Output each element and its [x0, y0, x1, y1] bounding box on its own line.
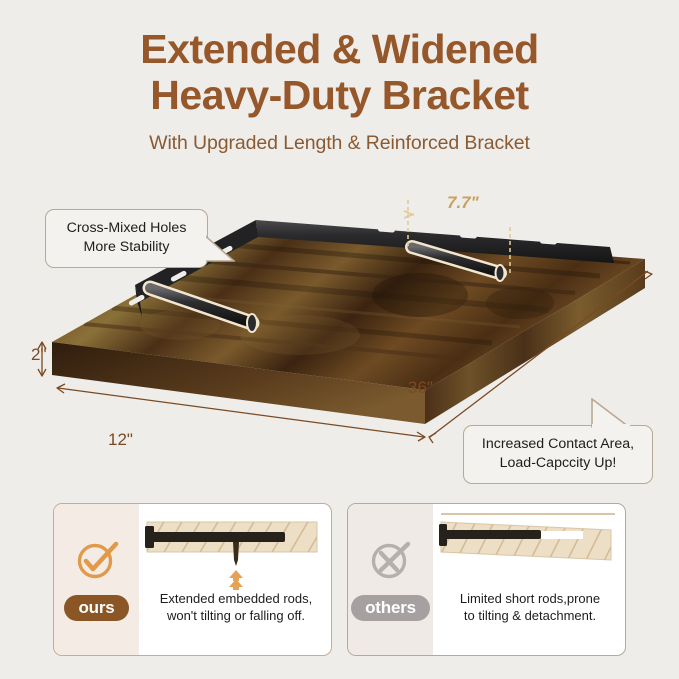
comparison-panel-ours: ours	[53, 503, 332, 656]
callout-tail-icon	[590, 398, 630, 428]
badge-ours: ours	[64, 595, 128, 621]
others-caption: Limited short rods,prone to tilting & de…	[460, 590, 600, 624]
check-circle-icon	[74, 539, 120, 581]
product-infographic: Extended & Widened Heavy-Duty Bracket Wi…	[0, 0, 679, 679]
panel-ours-right-column: Extended embedded rods, won't tilting or…	[139, 504, 332, 655]
callout-text: Increased Contact Area, Load-Capccity Up…	[476, 435, 640, 473]
dimension-label-rod: 7.7"	[447, 193, 479, 213]
screw-icon	[233, 542, 239, 566]
embedded-rod-short	[445, 530, 541, 539]
badge-others: others	[351, 595, 430, 621]
header: Extended & Widened Heavy-Duty Bracket Wi…	[0, 26, 679, 155]
empty-cavity	[541, 531, 583, 539]
callout-tail-icon	[203, 233, 235, 263]
ours-caption: Extended embedded rods, won't tilting or…	[160, 590, 313, 624]
panel-others-right-column: Limited short rods,prone to tilting & de…	[433, 504, 626, 655]
comparison-panel-others: others Lim	[347, 503, 626, 656]
x-circle-icon	[368, 539, 414, 581]
callout-text: Cross-Mixed Holes More Stability	[58, 219, 195, 257]
upward-arrows-icon	[229, 570, 243, 590]
dimension-label-length: 36"	[408, 378, 433, 398]
page-subtitle: With Upgraded Length & Reinforced Bracke…	[0, 132, 679, 155]
panel-ours-left-column: ours	[54, 504, 139, 655]
dimension-label-depth: 12"	[108, 430, 133, 450]
panel-others-left-column: others	[348, 504, 433, 655]
dimension-label-thickness: 2"	[31, 345, 47, 365]
others-diagram	[433, 508, 626, 594]
page-title-line-2: Heavy-Duty Bracket	[0, 72, 679, 118]
page-title-line-1: Extended & Widened	[0, 26, 679, 72]
ours-diagram	[139, 508, 332, 594]
callout-increased-contact-area: Increased Contact Area, Load-Capccity Up…	[463, 425, 653, 484]
callout-cross-mixed-holes: Cross-Mixed Holes More Stability	[45, 209, 208, 268]
embedded-rod-long	[152, 532, 285, 542]
measure-arrow-77	[404, 211, 414, 218]
